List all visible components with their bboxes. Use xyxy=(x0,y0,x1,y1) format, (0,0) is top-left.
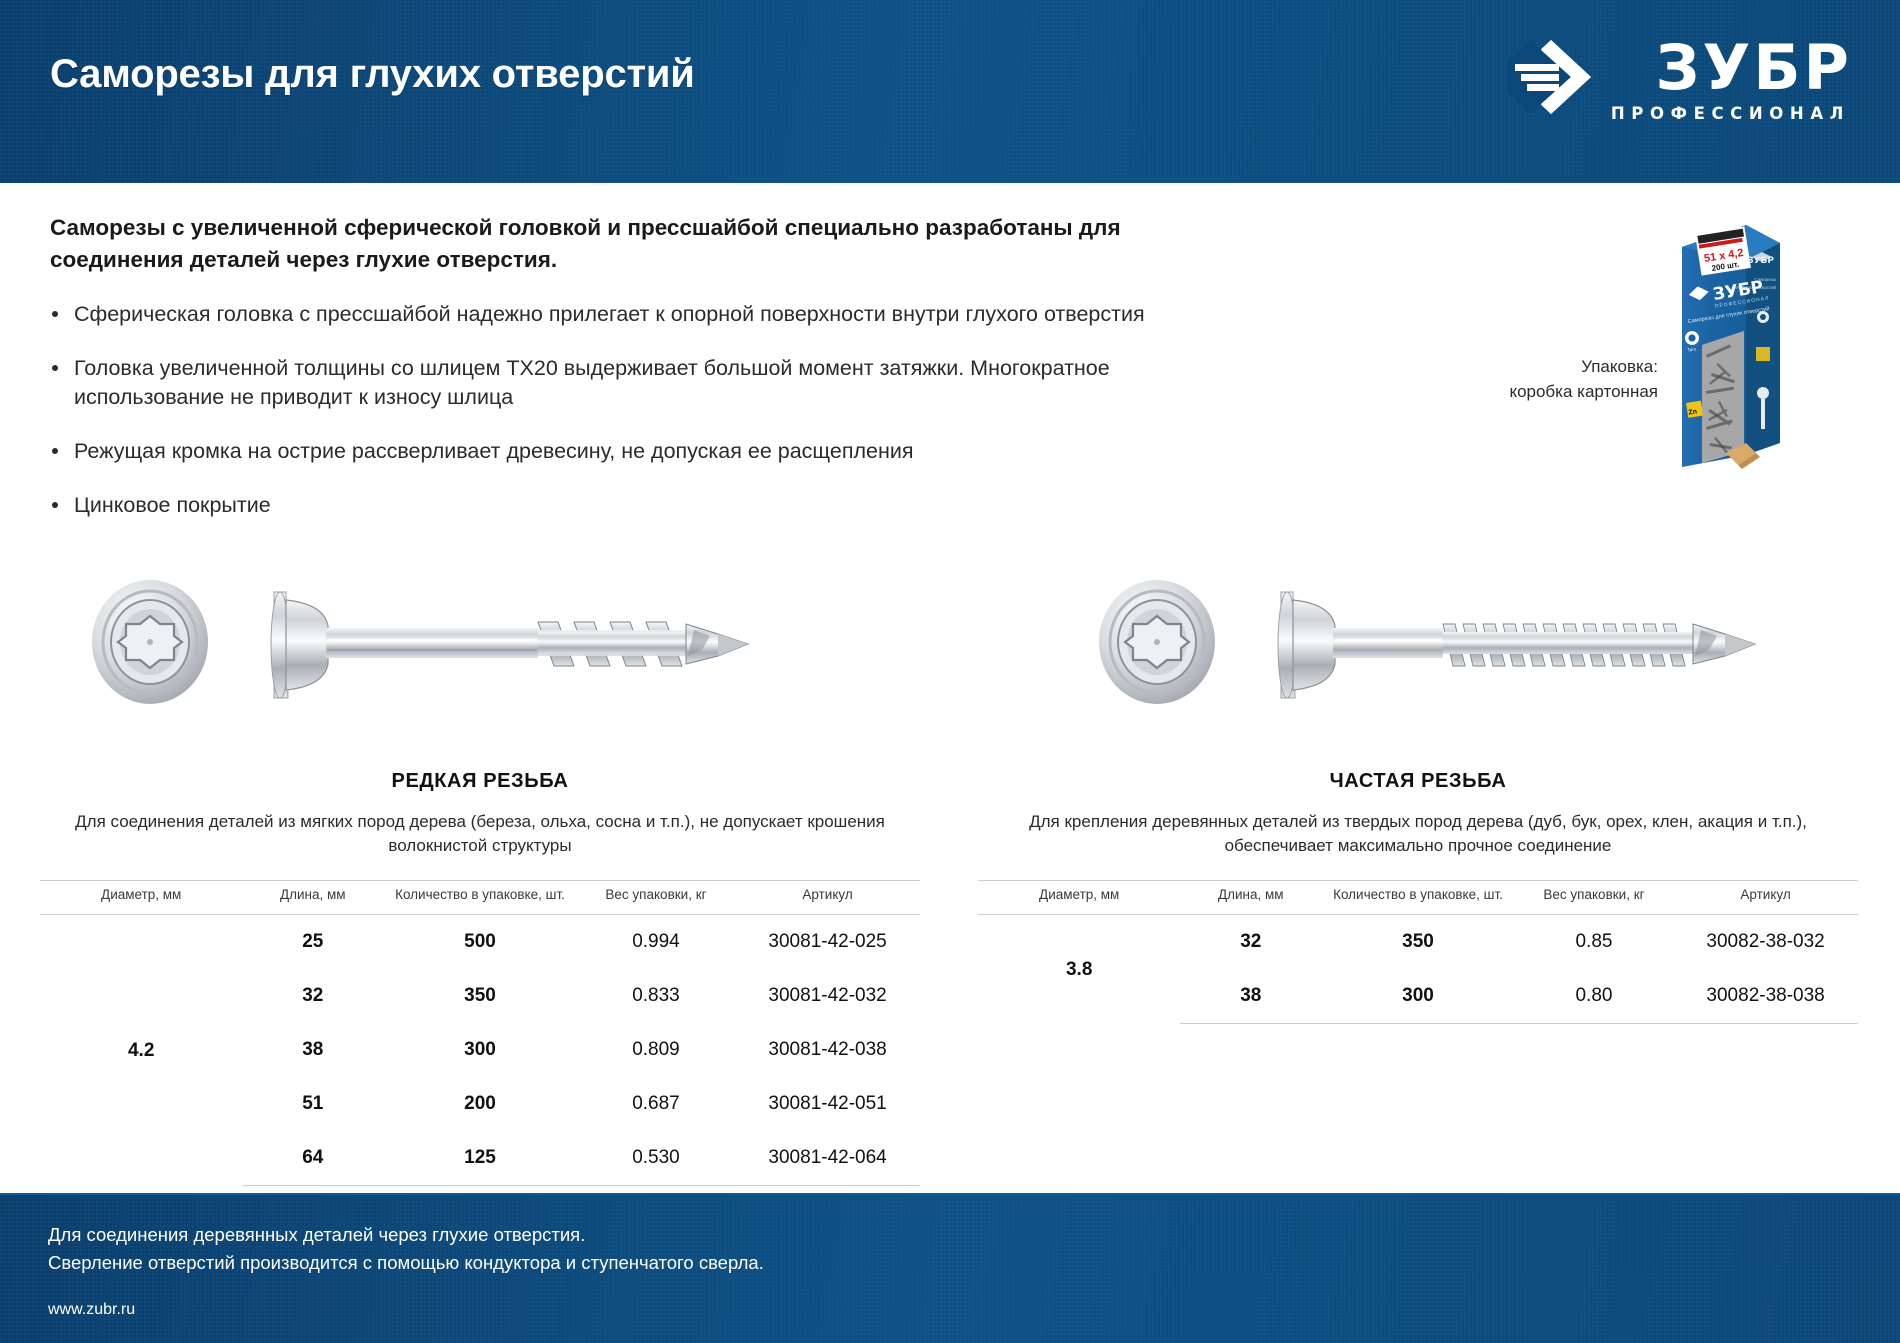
cell-quantity: 300 xyxy=(383,1023,577,1077)
package-section: Упаковка: коробка картонная 51 x xyxy=(1480,195,1870,475)
feature-list: Сферическая головка с прессшайбой надежн… xyxy=(50,300,1230,520)
cell-length: 38 xyxy=(242,1023,383,1077)
col-header-weight: Вес упаковки, кг xyxy=(577,881,735,915)
brand-wordmark: ЗУБР ПРОФЕССИОНАЛ xyxy=(1611,38,1852,123)
cell-article: 30081-42-064 xyxy=(735,1131,920,1186)
cell-article: 30081-42-038 xyxy=(735,1023,920,1077)
col-header-quantity: Количество в упаковке, шт. xyxy=(383,881,577,915)
bullet-dot-icon xyxy=(52,502,58,508)
footer-note-line2: Сверление отверстий производится с помощ… xyxy=(48,1249,764,1277)
col-header-diameter: Диаметр, мм xyxy=(978,881,1180,915)
cell-weight: 0.530 xyxy=(577,1131,735,1186)
col-header-length: Длина, мм xyxy=(1180,881,1321,915)
box-zn-label: Zn xyxy=(1688,408,1698,416)
cell-length: 64 xyxy=(242,1131,383,1186)
feature-text: Сферическая головка с прессшайбой надежн… xyxy=(74,302,1145,326)
column-description: Для крепления деревянных деталей из твер… xyxy=(978,810,1858,858)
cell-article: 30081-42-025 xyxy=(735,915,920,970)
screw-head-top-view xyxy=(92,580,208,704)
cell-article: 30082-38-032 xyxy=(1673,915,1858,970)
package-caption: Упаковка: коробка картонная xyxy=(1480,355,1658,404)
list-item: Сферическая головка с прессшайбой надежн… xyxy=(50,300,1230,329)
cell-length: 51 xyxy=(242,1077,383,1131)
spec-table-coarse: Диаметр, мм Длина, мм Количество в упако… xyxy=(40,880,920,1186)
cell-weight: 0.994 xyxy=(577,915,735,970)
cell-article: 30081-42-032 xyxy=(735,969,920,1023)
col-header-length: Длина, мм xyxy=(242,881,383,915)
fine-thread-screw-image xyxy=(1095,570,1765,715)
table-row: 4.2 25 500 0.994 30081-42-025 xyxy=(40,915,920,970)
cell-length: 25 xyxy=(242,915,383,970)
footer-website-url[interactable]: www.zubr.ru xyxy=(48,1301,135,1319)
page-title: Саморезы для глухих отверстий xyxy=(50,52,695,97)
column-description: Для соединения деталей из мягких пород д… xyxy=(40,810,920,858)
bullet-dot-icon xyxy=(52,365,58,371)
feature-text: Цинковое покрытие xyxy=(74,493,271,517)
feature-text: Головка увеличенной толщины со шлицем TX… xyxy=(74,356,1110,409)
zubr-diamond-icon xyxy=(1507,38,1593,116)
col-header-quantity: Количество в упаковке, шт. xyxy=(1321,881,1515,915)
column-title: РЕДКАЯ РЕЗЬБА xyxy=(40,770,920,793)
cell-quantity: 350 xyxy=(383,969,577,1023)
cell-diameter: 4.2 xyxy=(40,915,242,1186)
svg-text:Саморезы: Саморезы xyxy=(1754,277,1776,282)
bullet-dot-icon xyxy=(52,448,58,454)
cell-quantity: 500 xyxy=(383,915,577,970)
cell-weight: 0.833 xyxy=(577,969,735,1023)
bullet-dot-icon xyxy=(52,311,58,317)
table-header-row: Диаметр, мм Длина, мм Количество в упако… xyxy=(40,881,920,915)
spec-table-fine: Диаметр, мм Длина, мм Количество в упако… xyxy=(978,880,1858,1024)
footer-note-line1: Для соединения деревянных деталей через … xyxy=(48,1221,764,1249)
package-caption-line2: коробка картонная xyxy=(1480,380,1658,405)
list-item: Режущая кромка на острие рассверливает д… xyxy=(50,437,1230,466)
table-row: 3.8 32 350 0.85 30082-38-032 xyxy=(978,915,1858,970)
cell-article: 30082-38-038 xyxy=(1673,969,1858,1024)
cell-quantity: 300 xyxy=(1321,969,1515,1024)
column-title: ЧАСТАЯ РЕЗЬБА xyxy=(978,770,1858,793)
cell-quantity: 125 xyxy=(383,1131,577,1186)
product-column-fine: ЧАСТАЯ РЕЗЬБА Для крепления деревянных д… xyxy=(978,770,1858,1024)
cell-weight: 0.85 xyxy=(1515,915,1673,970)
screw-head-top-view xyxy=(1099,580,1215,704)
feature-text: Режущая кромка на острие рассверливает д… xyxy=(74,439,914,463)
page-header: Саморезы для глухих отверстий ЗУБР ПРОФЕ… xyxy=(0,0,1900,183)
cell-length: 32 xyxy=(1180,915,1321,970)
cell-weight: 0.687 xyxy=(577,1077,735,1131)
coarse-thread-screw-image xyxy=(88,570,758,715)
cell-article: 30081-42-051 xyxy=(735,1077,920,1131)
list-item: Головка увеличенной толщины со шлицем TX… xyxy=(50,354,1230,412)
col-header-weight: Вес упаковки, кг xyxy=(1515,881,1673,915)
footer-note: Для соединения деревянных деталей через … xyxy=(48,1221,764,1277)
brand-logo: ЗУБР ПРОФЕССИОНАЛ xyxy=(1507,38,1852,130)
package-box-image: 51 x 4,2 200 шт. ЗУБР ПРОФЕССИОНАЛ Самор… xyxy=(1676,205,1788,473)
col-header-diameter: Диаметр, мм xyxy=(40,881,242,915)
brand-name: ЗУБР xyxy=(1655,38,1852,99)
col-header-article: Артикул xyxy=(1673,881,1858,915)
cell-quantity: 350 xyxy=(1321,915,1515,970)
cell-length: 38 xyxy=(1180,969,1321,1024)
brand-subtitle: ПРОФЕССИОНАЛ xyxy=(1611,104,1850,123)
product-datasheet-page: Саморезы для глухих отверстий ЗУБР ПРОФЕ… xyxy=(0,0,1900,1343)
svg-text:ЗУБР: ЗУБР xyxy=(1747,256,1774,266)
cell-quantity: 200 xyxy=(383,1077,577,1131)
package-caption-line1: Упаковка: xyxy=(1480,355,1658,380)
col-header-article: Артикул xyxy=(735,881,920,915)
list-item: Цинковое покрытие xyxy=(50,491,1230,520)
cell-diameter: 3.8 xyxy=(978,915,1180,1024)
cell-weight: 0.80 xyxy=(1515,969,1673,1024)
screw-side-view xyxy=(271,592,748,698)
cell-weight: 0.809 xyxy=(577,1023,735,1077)
cell-length: 32 xyxy=(242,969,383,1023)
svg-text:для глухих отверстий: для глухих отверстий xyxy=(1731,284,1776,290)
screw-side-view xyxy=(1278,592,1755,698)
table-header-row: Диаметр, мм Длина, мм Количество в упако… xyxy=(978,881,1858,915)
page-footer: Для соединения деревянных деталей через … xyxy=(0,1193,1900,1343)
intro-paragraph: Саморезы с увеличенной сферической голов… xyxy=(50,212,1170,276)
product-column-coarse: РЕДКАЯ РЕЗЬБА Для соединения деталей из … xyxy=(40,770,920,1186)
